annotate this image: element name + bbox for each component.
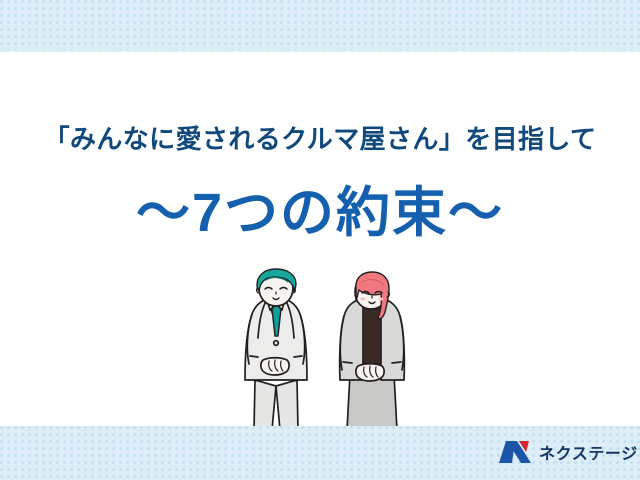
staff-illustration bbox=[236, 268, 422, 430]
staff-illustration-svg bbox=[236, 268, 422, 430]
nextage-n-mark-icon bbox=[498, 440, 532, 464]
female-staff-figure bbox=[340, 272, 405, 430]
page-headline: 「みんなに愛されるクルマ屋さん」を目指して bbox=[0, 124, 640, 155]
page-title: 〜7つの約束〜 bbox=[0, 182, 640, 244]
brand-name: ネクステージ bbox=[539, 440, 638, 464]
brand-logo: ネクステージ bbox=[498, 440, 638, 464]
top-dot-band bbox=[0, 0, 640, 52]
slide-canvas: 「みんなに愛されるクルマ屋さん」を目指して 〜7つの約束〜 bbox=[0, 0, 640, 480]
male-staff-figure bbox=[245, 269, 307, 430]
